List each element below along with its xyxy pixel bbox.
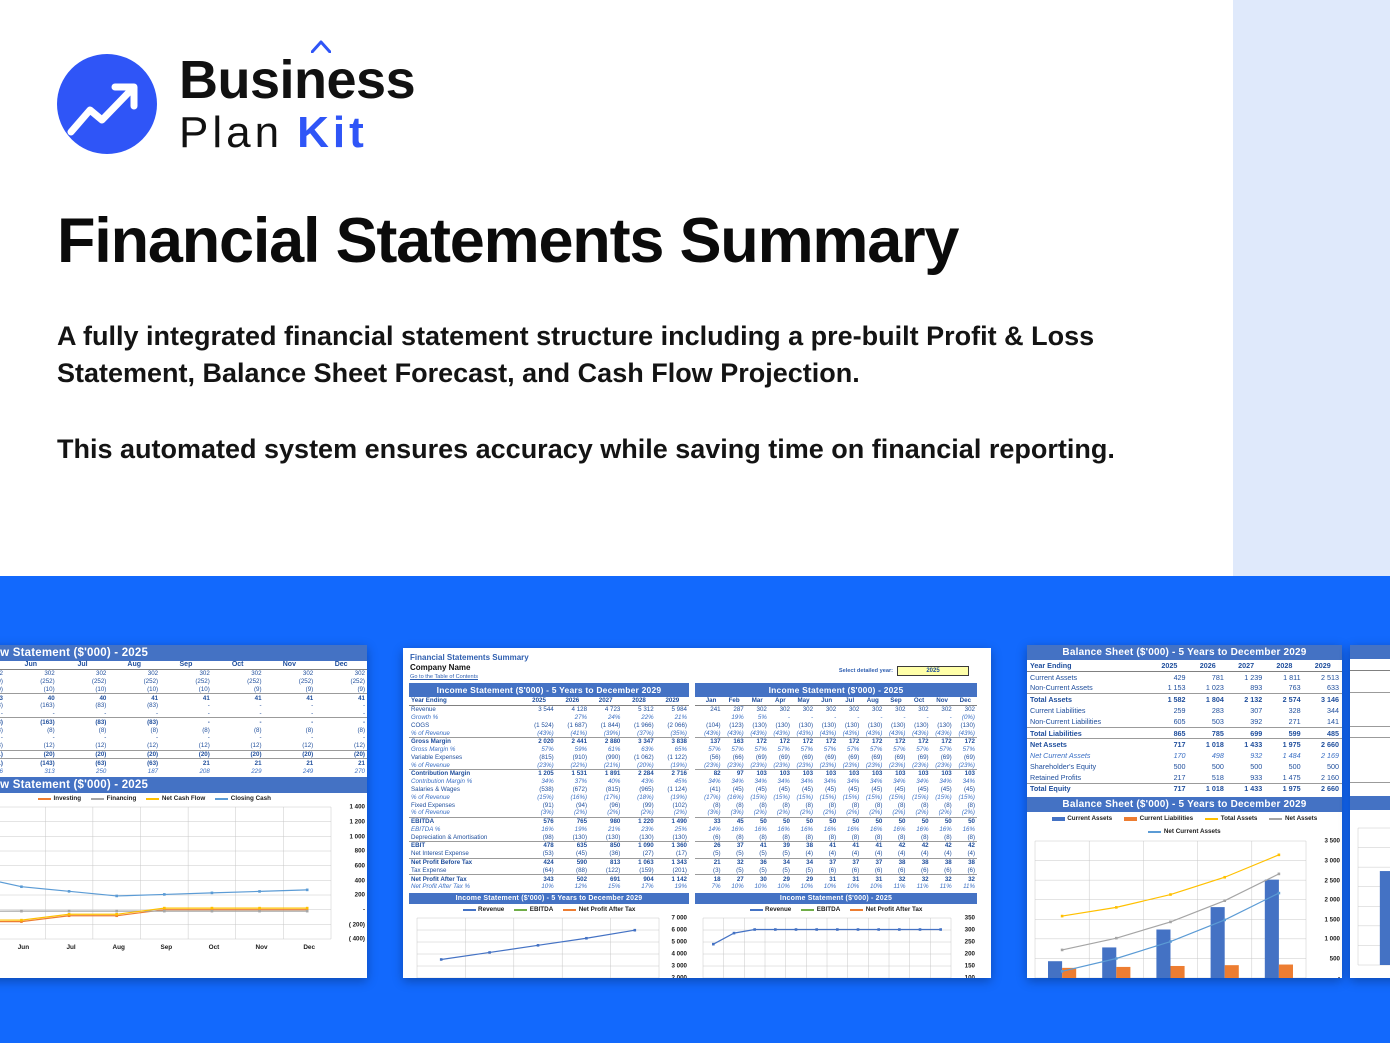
table-cell: (23%) (884, 761, 907, 769)
table-cell: 717 (1150, 739, 1188, 750)
table-cell: 1 484 (1265, 750, 1303, 761)
table-cell: 103 (838, 770, 861, 778)
table-cell: 57% (792, 746, 815, 754)
table-cell: - (160, 718, 212, 726)
table-cell: (69) (954, 753, 977, 761)
table-cell: 33 (700, 817, 723, 825)
y-tick-label: 7 000 (672, 915, 687, 922)
table-cell: (2%) (815, 809, 838, 817)
table-cell: (19%) (656, 761, 689, 769)
table-cell: (130) (907, 721, 930, 729)
table-cell: 32 (723, 858, 746, 866)
table-row: Salaries & Wages(538)(672)(815)(965)(1 1… (409, 786, 689, 794)
table-cell: (69) (838, 753, 861, 761)
table-cell: (45) (769, 786, 792, 794)
table-row: Net Profit After Tax %10%12%15%17%19% (409, 883, 689, 891)
table-cell: 34% (746, 778, 769, 786)
y-tick-label: 600 (355, 863, 365, 870)
table-row: (13)(12)(12)(12)(12)(12)(12)(12) (0, 742, 367, 750)
legend-item: Revenue (463, 906, 505, 913)
table-cell: (36) (589, 850, 622, 858)
table-cell: (1 124) (656, 786, 689, 794)
cash-flow-table: MayJunJulAugSepOctNovDec3023023023023023… (0, 661, 367, 775)
table-cell: 45% (656, 778, 689, 786)
table-cell: (3%) (522, 809, 555, 817)
table-cell: (23%) (954, 761, 977, 769)
table-cell: (15%) (861, 793, 884, 801)
table-cell: (23%) (931, 761, 954, 769)
table-cell: (130) (931, 721, 954, 729)
table-cell: 34 (792, 858, 815, 866)
table-row: (8)(8)(8)(8)(8)(8)(8)(8) (0, 726, 367, 734)
table-cell: 16% (884, 826, 907, 834)
income-5yr-chart-title: Income Statement ($'000) - 5 Years to De… (409, 893, 689, 904)
table-cell: 21 (160, 759, 212, 767)
table-cell: 19% (656, 883, 689, 891)
table-cell: (99) (622, 801, 655, 809)
table-cell: 172 (815, 737, 838, 745)
table-cell: 287 (723, 705, 746, 713)
far-right-partial-panel[interactable]: Jan1 1741241 297936927865121 08150012512… (1350, 645, 1390, 978)
cash-flow-chart[interactable]: InvestingFinancingNet Cash FlowClosing C… (0, 793, 367, 952)
table-cell: 500 (1150, 761, 1188, 772)
y-tick-label: 3 000 (672, 963, 687, 970)
table-row: Gross Margin2 0202 4412 8803 3473 838 (409, 737, 689, 745)
table-cell: (41) (700, 786, 723, 794)
table-cell: 141 (1304, 716, 1342, 727)
table-cell: 41 (746, 842, 769, 850)
table-cell: (91) (522, 801, 555, 809)
table-cell: 57% (700, 746, 723, 754)
table-cell: (20) (212, 750, 264, 759)
legend-label: Closing Cash (231, 795, 271, 802)
table-cell: 37 (838, 858, 861, 866)
table-cell: Oct (212, 661, 264, 669)
table-cell: Sep (884, 697, 907, 705)
table-cell: (8) (815, 833, 838, 841)
table-cell: - (57, 710, 109, 718)
cash-flow-plot-area: 1 4001 2001 000800600400200-( 200)( 400) (0, 803, 367, 943)
brand-logo: Business PlanKit (57, 53, 415, 155)
table-cell: (1 687) (556, 721, 589, 729)
legend-label: Revenue (765, 906, 791, 913)
table-cell: 10% (769, 883, 792, 891)
table-cell: (45) (838, 786, 861, 794)
table-cell: 208 (160, 767, 212, 775)
table-cell: (17) (656, 850, 689, 858)
table-cell: 2026 (1189, 660, 1227, 671)
income-5yr-plot-area: 7 0006 0005 0004 0003 0002 0001 000- (409, 914, 689, 978)
table-row: Total Equity7171 0181 4331 9752 660 (1027, 783, 1342, 794)
table-cell: (6) (954, 866, 977, 874)
table-cell: (6) (861, 866, 884, 874)
table-cell: (9) (264, 685, 316, 693)
income-monthly-chart[interactable]: Income Statement ($'000) - 2025 RevenueE… (695, 893, 977, 978)
table-cell: (8) (861, 833, 884, 841)
table-cell: 50 (815, 817, 838, 825)
table-cell: 16% (792, 826, 815, 834)
table-cell: (2%) (792, 809, 815, 817)
legend-item: Total Assets (1205, 815, 1257, 822)
balance-sheet-title-bar: Balance Sheet ($'000) - 5 Years to Decem… (1027, 645, 1342, 660)
table-cell: (21%) (589, 761, 622, 769)
table-cell: 41 (838, 842, 861, 850)
table-cell: (1 122) (656, 753, 689, 761)
table-cell: (43%) (769, 729, 792, 737)
y-tick-label: 150 (965, 963, 975, 970)
table-cell: 41 (264, 694, 316, 702)
cash-flow-screenshot-panel[interactable]: Cash Flow Statement ($'000) - 2025 MayJu… (0, 645, 367, 978)
hero-paragraph-2: This automated system ensures accuracy w… (57, 431, 1147, 468)
table-cell: (15%) (769, 793, 792, 801)
table-cell: (45) (792, 786, 815, 794)
table-cell: - (160, 734, 212, 742)
table-cell: 18 (700, 875, 723, 883)
y-tick-label: 3 500 (1325, 838, 1340, 845)
table-cell: 302 (954, 705, 977, 713)
table-cell: (10) (160, 685, 212, 693)
table-row: COGS(1 524)(1 687)(1 844)(1 966)(2 066) (409, 721, 689, 729)
table-cell: (4) (907, 850, 930, 858)
table-cell: - (315, 734, 367, 742)
table-cell: (43%) (907, 729, 930, 737)
year-selector-label: Select detailed year: (839, 668, 893, 674)
table-cell: Contribution Margin (409, 770, 522, 778)
table-cell: Growth % (409, 714, 522, 722)
table-cell: 2 880 (589, 737, 622, 745)
table-cell: 2027 (1227, 660, 1265, 671)
balance-sheet-screenshot-panel[interactable]: Balance Sheet ($'000) - 5 Years to Decem… (1027, 645, 1342, 978)
table-cell: 39 (769, 842, 792, 850)
table-cell: Depreciation & Amortisation (409, 833, 522, 841)
table-row: 182730292931313132323232 (695, 875, 977, 883)
table-cell: 137 (700, 737, 723, 745)
table-cell: (23%) (522, 761, 555, 769)
table-cell: (130) (884, 721, 907, 729)
table-row: 213236343437373738383838 (695, 858, 977, 866)
table-row: 34%34%34%34%34%34%34%34%34%34%34%34% (695, 778, 977, 786)
table-cell: 16% (723, 826, 746, 834)
table-cell: 478 (522, 842, 555, 850)
table-cell: - (264, 702, 316, 710)
table-cell: (2%) (861, 809, 884, 817)
table-cell: (37%) (622, 729, 655, 737)
legend-swatch (1124, 817, 1137, 821)
table-row: (23%)(23%)(23%)(23%)(23%)(23%)(23%)(23%)… (695, 761, 977, 769)
table-cell: (27) (622, 850, 655, 858)
table-cell: Revenue (409, 705, 522, 713)
table-cell: (8) (907, 833, 930, 841)
table-cell: 40 (5, 694, 57, 702)
table-cell: 14% (700, 826, 723, 834)
table-cell: Jun (815, 697, 838, 705)
table-row: Variable Expenses(815)(910)(990)(1 062)(… (409, 753, 689, 761)
legend-item: Net Profit After Tax (850, 906, 922, 913)
table-cell: 24% (589, 714, 622, 722)
y-tick-label: ( 200) (349, 921, 365, 928)
table-cell: (20) (315, 750, 367, 759)
table-cell: (35%) (656, 729, 689, 737)
table-cell: (15%) (884, 793, 907, 801)
table-row: Shareholder's Equity500500500500500 (1027, 761, 1342, 772)
table-cell: Contribution Margin % (409, 778, 522, 786)
table-cell: (83) (108, 702, 160, 710)
table-cell: (2%) (931, 809, 954, 817)
table-cell: (123) (723, 721, 746, 729)
table-cell: (18%) (622, 793, 655, 801)
table-cell: (45) (746, 786, 769, 794)
table-cell: Year Ending (409, 697, 522, 705)
table-cell: 328 (1265, 705, 1303, 716)
table-cell: 42 (954, 842, 977, 850)
legend-item: Closing Cash (215, 795, 271, 802)
table-cell: 172 (792, 737, 815, 745)
table-cell: (2%) (769, 809, 792, 817)
table-cell: - (838, 714, 861, 722)
far-panel-plot-area (1350, 824, 1390, 969)
year-selector-value[interactable]: 2025 (897, 666, 969, 676)
income-statement-screenshot-panel[interactable]: Financial Statements Summary Company Nam… (403, 648, 991, 978)
table-cell: (8) (746, 833, 769, 841)
table-cell: Non-Current Assets (1027, 683, 1150, 694)
table-cell: (43%) (838, 729, 861, 737)
table-row: Current Liabilities259283307328344 (1027, 705, 1342, 716)
legend-item: Net Assets (1269, 815, 1317, 822)
table-row: (41)(45)(45)(45)(45)(45)(45)(45)(45)(45)… (695, 786, 977, 794)
table-row: (163)(163)(83)(83)---- (0, 702, 367, 710)
table-cell: 57% (907, 746, 930, 754)
table-cell: EBITDA (409, 817, 522, 825)
y-tick-label: 350 (965, 915, 975, 922)
table-cell: 32 (907, 875, 930, 883)
table-cell: (10) (108, 685, 160, 693)
table-cell: (252) (108, 678, 160, 686)
table-cell: 217 (1150, 772, 1188, 783)
table-cell: 57% (884, 746, 907, 754)
balance-sheet-chart[interactable]: Current AssetsCurrent LiabilitiesTotal A… (1027, 812, 1342, 978)
table-cell: (5) (769, 866, 792, 874)
table-cell: 2025 (1150, 660, 1188, 671)
table-cell: 424 (522, 858, 555, 866)
table-cell: 271 (1265, 716, 1303, 727)
legend-swatch (563, 909, 576, 911)
table-cell: 16% (522, 826, 555, 834)
table-cell: 21% (589, 826, 622, 834)
table-cell: (122) (589, 866, 622, 874)
table-cell: 2 441 (556, 737, 589, 745)
y-tick-label: 300 (965, 927, 975, 934)
legend-item: Revenue (750, 906, 792, 913)
legend-swatch (750, 909, 763, 911)
table-cell: (1 062) (622, 753, 655, 761)
table-cell: 932 (1227, 750, 1265, 761)
table-row: 14%16%16%16%16%16%16%16%16%16%16%16% (695, 826, 977, 834)
table-cell: 172 (746, 737, 769, 745)
table-cell: (2%) (954, 809, 977, 817)
table-cell: 22% (622, 714, 655, 722)
table-cell: 1 297 (1350, 693, 1390, 704)
table-cell: 172 (884, 737, 907, 745)
y-tick-label: 2 000 (672, 975, 687, 978)
table-cell: - (212, 734, 264, 742)
legend-label: Net Profit After Tax (579, 906, 636, 913)
table-cell: 50 (907, 817, 930, 825)
table-cell: 29 (769, 875, 792, 883)
table-row: (163)(163)(83)(83)---- (0, 718, 367, 726)
table-cell: 1 433 (1227, 783, 1265, 794)
table-cell: 41 (160, 694, 212, 702)
table-row: 456313250187208229249270 (0, 767, 367, 775)
table-cell: (17%) (589, 793, 622, 801)
table-cell: (130) (746, 721, 769, 729)
table-cell: 2029 (1304, 660, 1342, 671)
year-selector[interactable]: Select detailed year: 2025 (839, 666, 969, 676)
table-cell: 590 (556, 858, 589, 866)
table-cell: (163) (5, 718, 57, 726)
y-tick-label: 400 (355, 877, 365, 884)
table-cell: 500 (1350, 760, 1390, 771)
table-cell: (6) (931, 866, 954, 874)
table-cell: 97 (723, 770, 746, 778)
table-cell: Total Assets (1027, 694, 1150, 705)
table-cell: Gross Margin (409, 737, 522, 745)
table-cell: 40 (57, 694, 109, 702)
table-cell: 23% (622, 826, 655, 834)
table-cell: Variable Expenses (409, 753, 522, 761)
table-cell: (22%) (556, 761, 589, 769)
table-cell: (5) (792, 866, 815, 874)
table-cell: (2%) (589, 809, 622, 817)
table-cell: 302 (931, 705, 954, 713)
table-cell: - (108, 710, 160, 718)
table-cell: 2 020 (522, 737, 555, 745)
table-cell: (0%) (954, 714, 977, 722)
table-row: 8297103103103103103103103103103103 (695, 770, 977, 778)
table-cell: (15%) (522, 793, 555, 801)
table-cell: Aug (108, 661, 160, 669)
table-cell: Jan (1350, 659, 1390, 670)
table-cell: 16% (861, 826, 884, 834)
table-cell: 980 (589, 817, 622, 825)
table-cell: (45) (931, 786, 954, 794)
table-cell: 2 169 (1304, 750, 1342, 761)
table-cell: Total Equity (1027, 783, 1150, 794)
table-cell: (8) (108, 726, 160, 734)
table-cell: 57% (931, 746, 954, 754)
table-cell: 41 (108, 694, 160, 702)
table-cell: (43%) (746, 729, 769, 737)
table-cell: 50 (861, 817, 884, 825)
table-cell: 57% (746, 746, 769, 754)
table-cell: 1 174 (1350, 670, 1390, 681)
table-cell: (9) (212, 685, 264, 693)
table-cell: (8) (264, 726, 316, 734)
table-row: 334550505050505050505050 (695, 817, 977, 825)
y-tick-label: - (1338, 975, 1340, 978)
table-cell: 500 (1304, 761, 1342, 772)
table-row: EBIT4786358501 0901 360 (409, 842, 689, 850)
table-cell: 283 (1189, 705, 1227, 716)
table-cell: 503 (1189, 716, 1227, 727)
table-cell: 41 (815, 842, 838, 850)
table-cell: 43% (622, 778, 655, 786)
table-cell: 11% (884, 883, 907, 891)
table-cell: 4 723 (589, 705, 622, 713)
table-cell: 17% (622, 883, 655, 891)
table-cell: 7% (700, 883, 723, 891)
income-monthly-table: JanFebMarAprMayJunJulAugSepOctNovDec2412… (695, 697, 977, 891)
circumflex-accent-icon (311, 40, 331, 53)
table-cell: Tax Expense (409, 866, 522, 874)
table-cell: (69) (931, 753, 954, 761)
table-cell: (159) (622, 866, 655, 874)
table-cell: Jan (700, 697, 723, 705)
y-tick-label: 5 000 (672, 939, 687, 946)
table-cell: Non-Current Liabilities (1027, 716, 1150, 727)
table-cell: (4) (815, 850, 838, 858)
table-cell: - (861, 714, 884, 722)
table-row: Contribution Margin1 2051 5311 8912 2842… (409, 770, 689, 778)
table-cell: 2027 (589, 697, 622, 705)
table-cell: 512 (1350, 738, 1390, 749)
table-cell: 302 (5, 669, 57, 677)
table-row: (104)(123)(130)(130)(130)(130)(130)(130)… (695, 721, 977, 729)
table-cell: (8) (212, 726, 264, 734)
legend-label: Net Cash Flow (162, 795, 205, 802)
table-row: Current Assets4297811 2391 8112 513 (1027, 671, 1342, 682)
table-cell: (5) (723, 850, 746, 858)
balance-sheet-chart-title-bar: Balance Sheet ($'000) - 5 Years to Decem… (1027, 797, 1342, 812)
table-cell: 40% (589, 778, 622, 786)
table-cell: (43%) (931, 729, 954, 737)
table-cell: (20) (57, 750, 109, 759)
table-cell: (45) (954, 786, 977, 794)
table-cell: 781 (1189, 671, 1227, 682)
table-cell: Aug (861, 697, 884, 705)
table-cell: (8) (931, 801, 954, 809)
table-row: -------- (0, 734, 367, 742)
table-cell: (23%) (792, 761, 815, 769)
table-cell: 16% (838, 826, 861, 834)
table-cell: 893 (1227, 683, 1265, 694)
brand-name-plan-kit: PlanKit (179, 111, 415, 155)
table-cell: (83) (57, 718, 109, 726)
table-cell: (815) (522, 753, 555, 761)
table-cell: (252) (212, 678, 264, 686)
table-cell: (252) (5, 678, 57, 686)
table-cell: 2 513 (1304, 671, 1342, 682)
brand-plan-text: Plan (179, 108, 283, 157)
legend-label: EBITDA (530, 906, 553, 913)
table-cell: Sep (160, 661, 212, 669)
table-row: (17%)(16%)(15%)(15%)(15%)(15%)(15%)(15%)… (695, 793, 977, 801)
table-cell: % of Revenue (409, 761, 522, 769)
table-cell: (8) (884, 801, 907, 809)
table-row: 1 297 (1350, 693, 1390, 704)
table-cell: (12) (264, 742, 316, 750)
table-cell: 57% (861, 746, 884, 754)
table-cell: (5) (723, 866, 746, 874)
light-blue-accent-panel (1233, 0, 1390, 576)
y-tick-label: 4 000 (672, 951, 687, 958)
table-cell: (201) (656, 866, 689, 874)
table-cell: 38 (931, 858, 954, 866)
y-tick-label: - (363, 907, 365, 914)
table-cell: (130) (815, 721, 838, 729)
table-cell: 502 (556, 875, 589, 883)
table-cell: (6) (907, 866, 930, 874)
income-5yr-chart[interactable]: Income Statement ($'000) - 5 Years to De… (409, 893, 689, 978)
